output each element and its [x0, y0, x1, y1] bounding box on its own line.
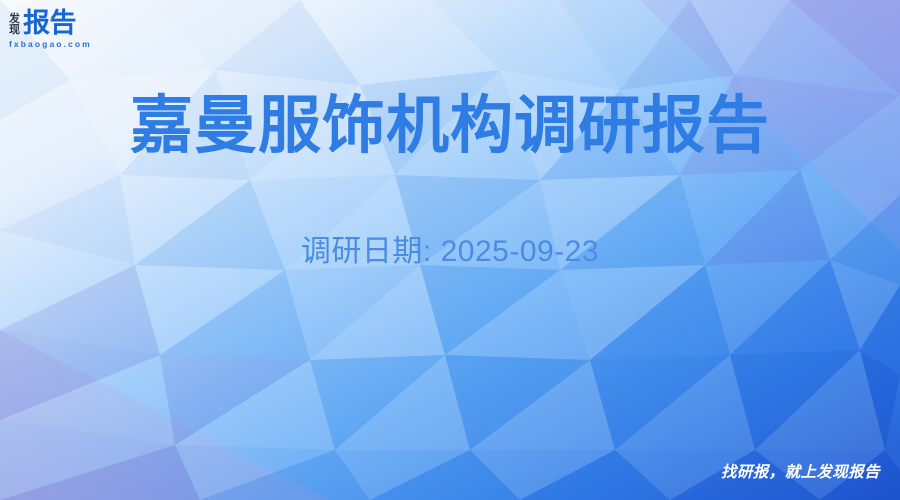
footer-tagline: 找研报，就上发现报告 — [721, 460, 880, 482]
logo-row: 发 现 报告 — [9, 9, 189, 37]
logo-wordmark: 报告 — [23, 10, 76, 37]
report-cover: 发 现 报告 fxbaogao.com 嘉曼服饰机构调研报告 调研日期: 202… — [0, 0, 900, 500]
brand-logo[interactable]: 发 现 报告 fxbaogao.com — [9, 9, 189, 54]
logo-mark-char-2: 现 — [9, 25, 20, 36]
low-poly-background — [0, 0, 900, 500]
logo-url: fxbaogao.com — [9, 39, 189, 49]
logo-mark-faxian: 发 现 — [9, 14, 20, 37]
